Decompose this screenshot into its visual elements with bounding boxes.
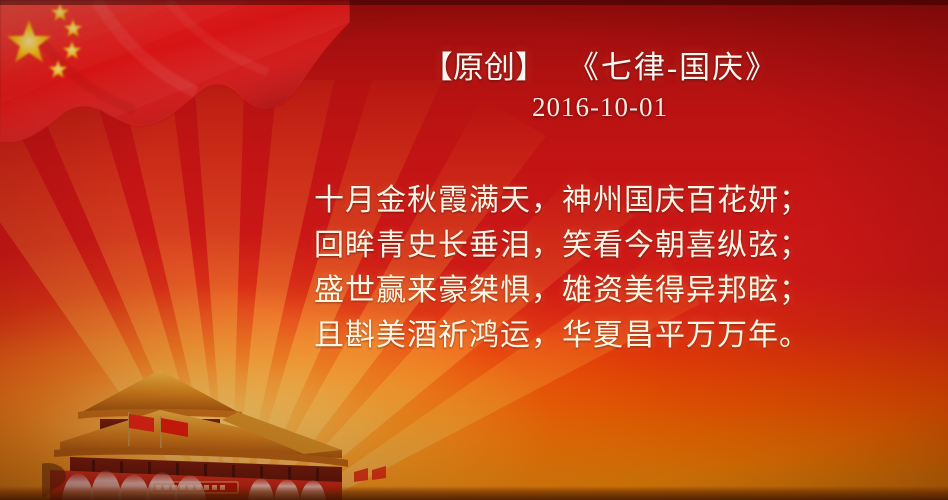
- publish-date: 2016-10-01: [300, 92, 900, 123]
- poem-line-3: 盛世赢来豪桀惧，雄资美得异邦眩；: [314, 268, 914, 313]
- page-title: 【原创】《七律-国庆》: [300, 42, 900, 87]
- poem-line-2: 回眸青史长垂泪，笑看今朝喜纵弦；: [314, 223, 914, 268]
- poem-line-4: 且斟美酒祈鸿运，华夏昌平万万年。: [314, 313, 914, 358]
- china-flag: [0, 0, 350, 190]
- poem-line-1: 十月金秋霞满天，神州国庆百花妍；: [314, 178, 914, 223]
- title-poem-name: 《七律-国庆》: [568, 50, 778, 85]
- text-content: 【原创】《七律-国庆》 2016-10-01 十月金秋霞满天，神州国庆百花妍； …: [300, 0, 948, 500]
- title-original-tag: 【原创】: [422, 50, 546, 85]
- flag-stars: [7, 3, 83, 78]
- national-day-poem-poster: 【原创】《七律-国庆》 2016-10-01 十月金秋霞满天，神州国庆百花妍； …: [0, 0, 948, 500]
- poem-body: 十月金秋霞满天，神州国庆百花妍； 回眸青史长垂泪，笑看今朝喜纵弦； 盛世赢来豪桀…: [314, 178, 914, 358]
